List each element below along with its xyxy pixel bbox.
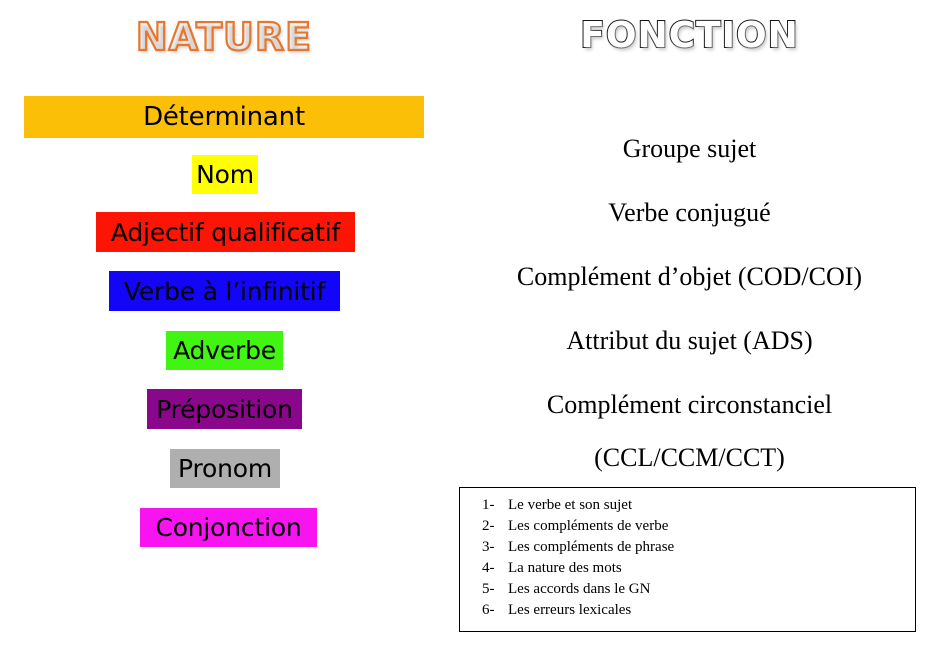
objectives-list-item: 4- La nature des mots <box>482 561 915 582</box>
nature-chip-label: Adjectif qualificatif <box>111 220 340 245</box>
nature-chip-determinant: Déterminant <box>24 96 424 138</box>
fonction-line-attribut-sujet: Attribut du sujet (ADS) <box>452 328 927 354</box>
nature-chip-label: Conjonction <box>155 515 301 540</box>
nature-chip-nom: Nom <box>192 155 258 194</box>
objectives-item-label: Les accords dans le GN <box>508 582 650 597</box>
nature-chip-verbe-infinitif: Verbe à l’infinitif <box>109 271 340 311</box>
nature-chip-label: Adverbe <box>173 338 276 363</box>
objectives-item-label: Les compléments de phrase <box>508 540 674 555</box>
objectives-box: 1- Le verbe et son sujet 2- Les compléme… <box>459 487 916 632</box>
objectives-item-label: Les erreurs lexicales <box>508 603 631 618</box>
objectives-list-item: 1- Le verbe et son sujet <box>482 498 915 519</box>
fonction-line-groupe-sujet: Groupe sujet <box>452 136 927 162</box>
objectives-list-item: 2- Les compléments de verbe <box>482 519 915 540</box>
objectives-list-item: 5- Les accords dans le GN <box>482 582 915 603</box>
objectives-list-item: 3- Les compléments de phrase <box>482 540 915 561</box>
objectives-item-number: 3- <box>482 540 508 555</box>
fonction-line-verbe-conjugue: Verbe conjugué <box>452 200 927 226</box>
objectives-item-number: 5- <box>482 582 508 597</box>
objectives-item-label: Les compléments de verbe <box>508 519 668 534</box>
fonction-line-complement-circonstanciel: Complément circonstanciel <box>452 392 927 418</box>
objectives-item-number: 6- <box>482 603 508 618</box>
objectives-item-label: La nature des mots <box>508 561 622 576</box>
nature-chip-adverbe: Adverbe <box>166 331 283 370</box>
objectives-item-number: 1- <box>482 498 508 513</box>
nature-chip-conjonction: Conjonction <box>140 508 317 547</box>
objectives-list-item: 6- Les erreurs lexicales <box>482 603 915 624</box>
fonction-line-complement-objet: Complément d’objet (COD/COI) <box>452 264 927 290</box>
nature-chip-pronom: Pronom <box>170 449 280 488</box>
nature-chip-label: Pronom <box>178 456 272 481</box>
nature-chip-label: Nom <box>196 162 254 187</box>
nature-chip-preposition: Préposition <box>147 389 302 429</box>
nature-chip-adjectif-qualificatif: Adjectif qualificatif <box>96 212 355 252</box>
objectives-item-number: 2- <box>482 519 508 534</box>
objectives-item-label: Le verbe et son sujet <box>508 498 632 513</box>
nature-chip-label: Déterminant <box>143 104 305 130</box>
slide-canvas: NATURE FONCTION Déterminant Nom Adjectif… <box>0 0 927 645</box>
fonction-line-complement-circonstanciel-abbr: (CCL/CCM/CCT) <box>452 445 927 471</box>
nature-chip-label: Préposition <box>156 397 293 422</box>
nature-column-title: NATURE <box>0 18 448 56</box>
fonction-column-title: FONCTION <box>452 18 927 54</box>
objectives-item-number: 4- <box>482 561 508 576</box>
nature-chip-label: Verbe à l’infinitif <box>124 279 325 304</box>
